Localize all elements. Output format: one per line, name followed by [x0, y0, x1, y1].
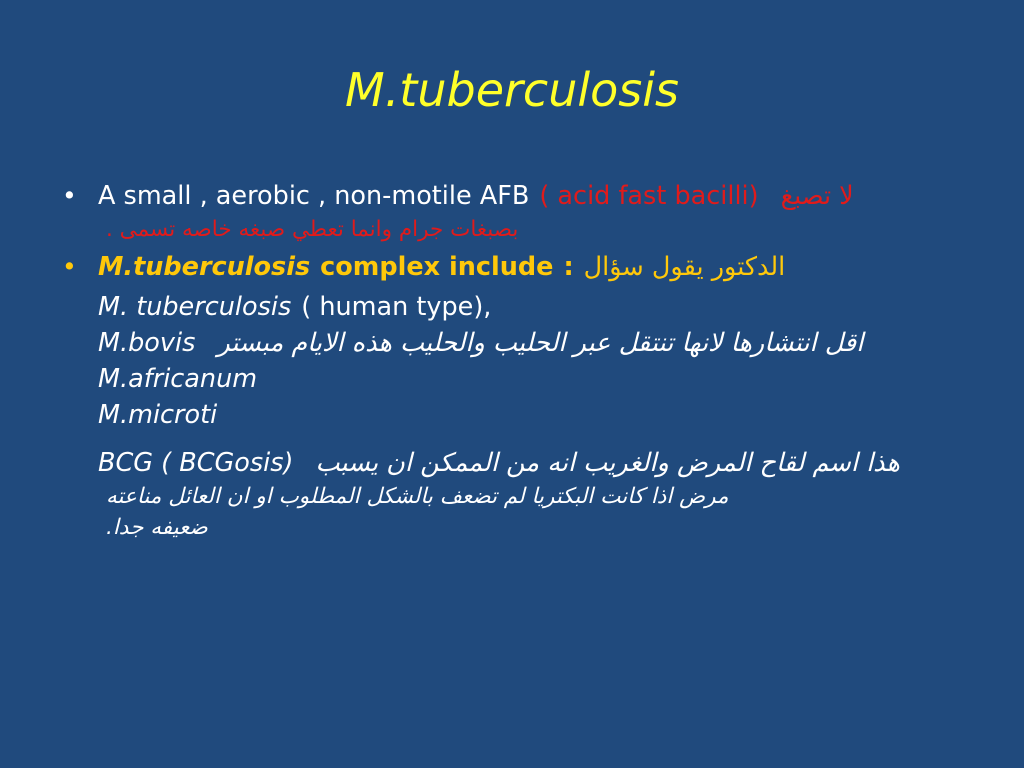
bullet-1-arabic-wrap: بصبغات جرام وانما تعطي صبغه خاصه تسمى . [46, 214, 996, 245]
species-line-m-africanum: M.africanum [46, 361, 996, 397]
species-arabic-note-bcg: هذا اسم لقاح المرض والغريب انه من الممكن… [315, 448, 900, 478]
species-name-m-africanum: M.africanum [98, 364, 257, 394]
species-line-m-bovis: M.bovisاقل انتشارها لانها تنتقل عبر الحل… [46, 325, 996, 361]
bcg-arabic-wrap-line-2: ضعيفه جدا. [46, 512, 996, 543]
bullet-1-arabic-note-part2: بصبغات جرام وانما تعطي صبغه خاصه تسمى . [106, 217, 518, 242]
species-name-bcg: BCG ( BCGosis) [98, 448, 293, 478]
bullet-marker-icon: • [62, 249, 77, 285]
slide-body: •A small , aerobic , non-motile AFB( aci… [46, 178, 996, 543]
species-line-human-type: M. tuberculosis( human type), [46, 289, 996, 325]
species-suffix-human-type: ( human type), [301, 292, 491, 322]
bullet-marker-icon: • [62, 178, 77, 214]
bullet-1-acid-fast-bacilli: ( acid fast bacilli) [539, 181, 758, 211]
species-name-m-microti: M.microti [98, 400, 217, 430]
page-title: M.tuberculosis [0, 62, 1024, 118]
bcg-arabic-wrap-line-1: مرض اذا كانت البكتريا لم تضعف بالشكل الم… [46, 481, 996, 512]
species-line-bcg: BCG ( BCGosis)هذا اسم لقاح المرض والغريب… [46, 445, 996, 481]
species-name-m-bovis: M.bovis [98, 328, 195, 358]
bullet-2-arabic-note: الدكتور يقول سؤال [584, 252, 786, 282]
bullet-2-complex-include: complex include [320, 252, 553, 282]
species-arabic-note-m-bovis: اقل انتشارها لانها تنتقل عبر الحليب والح… [217, 328, 863, 358]
species-line-m-microti: M.microti [46, 397, 996, 433]
bcg-arabic-note-continued-2: ضعيفه جدا. [106, 515, 208, 540]
bullet-2-colon: : [563, 252, 573, 282]
bullet-1-arabic-note-part1: لا تصبغ [781, 181, 854, 211]
bullet-1-english-text: A small , aerobic , non-motile AFB [98, 181, 529, 211]
bullet-item-2: •M.tuberculosiscomplex include:الدكتور ي… [46, 249, 996, 285]
bullet-item-1: •A small , aerobic , non-motile AFB( aci… [46, 178, 996, 214]
bcg-arabic-note-continued-1: مرض اذا كانت البكتريا لم تضعف بالشكل الم… [106, 484, 729, 509]
bullet-2-species-name: M.tuberculosis [98, 252, 310, 282]
species-name-m-tuberculosis: M. tuberculosis [98, 292, 291, 322]
slide-canvas: M.tuberculosis •A small , aerobic , non-… [0, 0, 1024, 768]
